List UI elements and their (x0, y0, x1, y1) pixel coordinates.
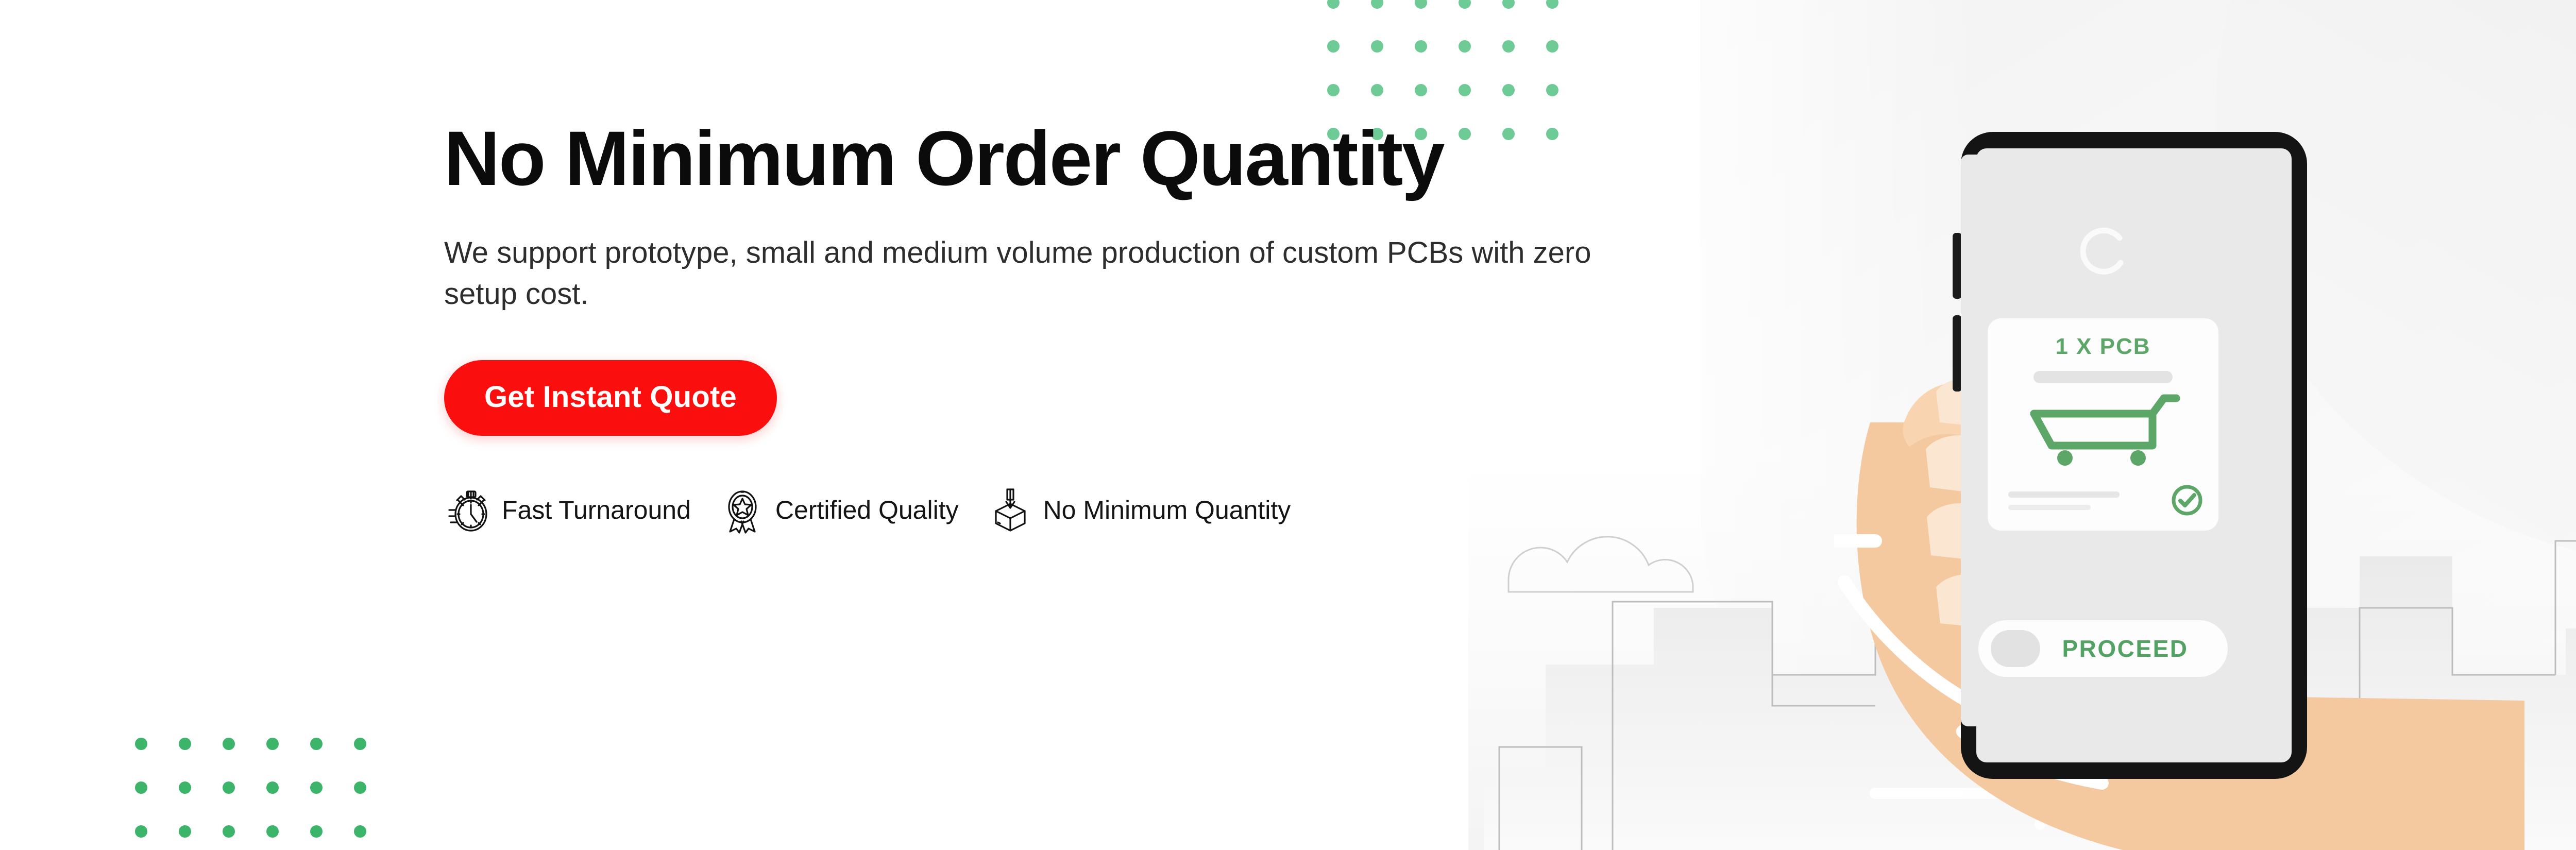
circle-check-icon (2170, 483, 2204, 517)
card-detail-line-2 (2008, 505, 2091, 510)
dot (1459, 84, 1471, 96)
open-box-arrow-icon (986, 485, 1035, 535)
dot (135, 738, 147, 750)
page-title: No Minimum Order Quantity (444, 117, 1691, 199)
feature-badge-label: Certified Quality (775, 495, 959, 525)
feature-badge-no-minimum-quantity: No Minimum Quantity (986, 485, 1291, 535)
dot (223, 738, 235, 750)
loading-spinner-icon (2075, 223, 2131, 278)
feature-badge-label: No Minimum Quantity (1043, 495, 1291, 525)
dot (179, 781, 191, 794)
stopwatch-icon (444, 485, 494, 535)
dot (1459, 0, 1471, 9)
proceed-toggle-knob[interactable] (1991, 630, 2040, 667)
dot (1459, 40, 1471, 53)
dot (1502, 0, 1515, 9)
feature-badge-list: Fast Turnaround Certi (444, 485, 1691, 535)
dot (1327, 40, 1340, 53)
dot (310, 825, 323, 838)
dot (179, 825, 191, 838)
dot (266, 781, 279, 794)
dot (1327, 0, 1340, 9)
phone-screen: 1 X PCB (1961, 155, 2245, 726)
dot (266, 738, 279, 750)
dot (1371, 84, 1383, 96)
award-ribbon-icon (718, 485, 767, 535)
dot (1415, 0, 1427, 9)
dot (1502, 84, 1515, 96)
dot (135, 781, 147, 794)
dot (1502, 40, 1515, 53)
dot (1371, 0, 1383, 9)
proceed-label: PROCEED (2040, 635, 2228, 662)
dot (354, 738, 366, 750)
order-summary-card: 1 X PCB (1988, 318, 2218, 531)
dot (1415, 84, 1427, 96)
dot (223, 781, 235, 794)
dot (1546, 0, 1558, 9)
dot (1546, 84, 1558, 96)
dot (1546, 40, 1558, 53)
shopping-cart-icon (2026, 389, 2180, 472)
card-detail-line-1 (2008, 491, 2120, 498)
dot (1327, 84, 1340, 96)
dot (266, 825, 279, 838)
dot (135, 825, 147, 838)
dot (310, 738, 323, 750)
dot (310, 781, 323, 794)
feature-badge-label: Fast Turnaround (502, 495, 691, 525)
dot (179, 738, 191, 750)
dot (1415, 40, 1427, 53)
dot (223, 825, 235, 838)
dot (1371, 40, 1383, 53)
cloud-outline-icon (1509, 537, 1693, 592)
card-placeholder-bar (2033, 371, 2173, 383)
dot (354, 781, 366, 794)
hero-subheading: We support prototype, small and medium v… (444, 232, 1593, 315)
hero-content: No Minimum Order Quantity We support pro… (444, 117, 1691, 535)
order-card-title: 1 X PCB (1988, 334, 2218, 360)
proceed-button[interactable]: PROCEED (1978, 620, 2228, 677)
get-instant-quote-button[interactable]: Get Instant Quote (444, 360, 777, 436)
hero-banner: 1 X PCB (0, 0, 2576, 850)
dot (354, 825, 366, 838)
feature-badge-certified-quality: Certified Quality (718, 485, 959, 535)
feature-badge-fast-turnaround: Fast Turnaround (444, 485, 691, 535)
dot-grid-bottom (135, 738, 398, 850)
